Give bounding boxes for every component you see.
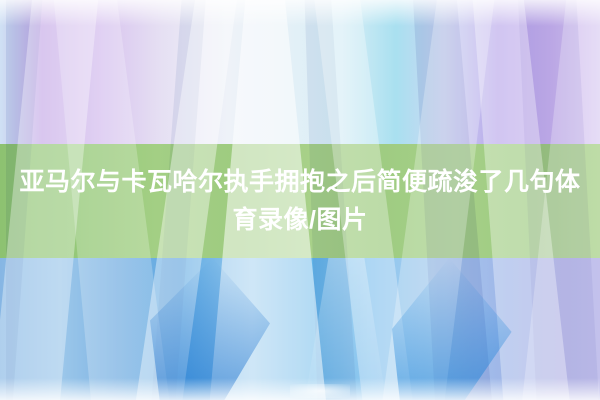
caption-line-2: 育录像/图片 [233, 201, 368, 239]
caption-block: 亚马尔与卡瓦哈尔执手拥抱之后简便疏浚了几句体 育录像/图片 [0, 144, 600, 258]
caption-line-1: 亚马尔与卡瓦哈尔执手拥抱之后简便疏浚了几句体 [19, 163, 580, 201]
background-zone-top [0, 0, 600, 144]
background-zone-bottom-blue [0, 258, 600, 400]
decorative-banner-image: 亚马尔与卡瓦哈尔执手拥抱之后简便疏浚了几句体 育录像/图片 [0, 0, 600, 400]
